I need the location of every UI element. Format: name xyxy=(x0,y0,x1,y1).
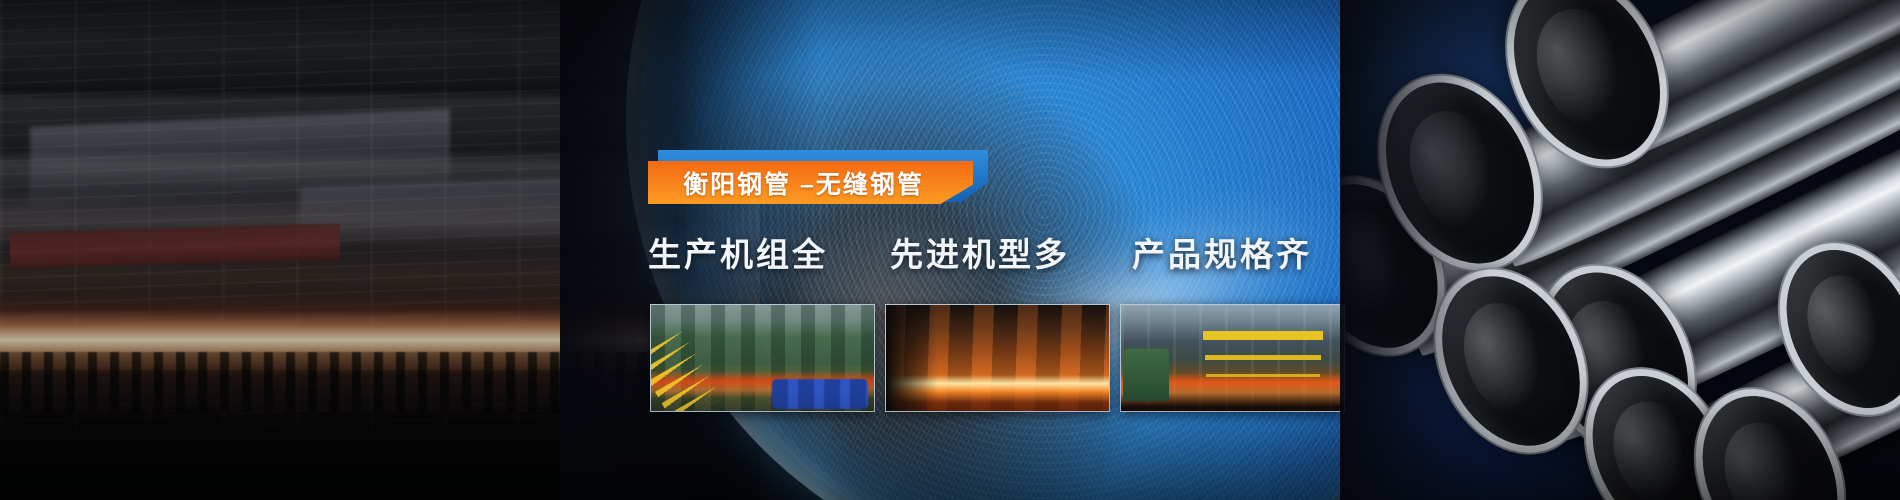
promo-banner: 衡阳钢管 –无缝钢管 生产机组全 先进机型多 产品规格齐 xyxy=(0,0,1900,500)
brand-tag-orange-plate: 衡阳钢管 –无缝钢管 xyxy=(648,161,973,204)
pipes-left-fade xyxy=(1340,0,1490,500)
thumbnail-strip xyxy=(650,304,1345,412)
factory-red-plate xyxy=(10,223,340,268)
headline-item-1: 生产机组全 xyxy=(648,228,828,276)
brand-tag: 衡阳钢管 –无缝钢管 xyxy=(648,150,988,210)
thumbnail-3[interactable] xyxy=(1120,304,1345,412)
thumbnail-3-yellow-platform xyxy=(1203,331,1323,340)
thumbnail-1-image xyxy=(651,305,874,411)
headline-group: 生产机组全 先进机型多 产品规格齐 xyxy=(648,228,1312,276)
thumbnail-1[interactable] xyxy=(650,304,875,412)
thumbnail-2[interactable] xyxy=(885,304,1110,412)
headline-item-2: 先进机型多 xyxy=(890,228,1070,276)
headline-item-3: 产品规格齐 xyxy=(1132,228,1312,276)
thumbnail-3-green-machine xyxy=(1123,349,1169,401)
brand-tag-label: 衡阳钢管 –无缝钢管 xyxy=(683,165,938,201)
thumbnail-2-shadow xyxy=(886,305,938,412)
thumbnail-3-image xyxy=(1121,305,1344,411)
steel-pipes-image xyxy=(1340,0,1900,500)
thumbnail-1-blue-drums xyxy=(772,379,868,409)
thumbnail-2-image xyxy=(886,305,1109,411)
